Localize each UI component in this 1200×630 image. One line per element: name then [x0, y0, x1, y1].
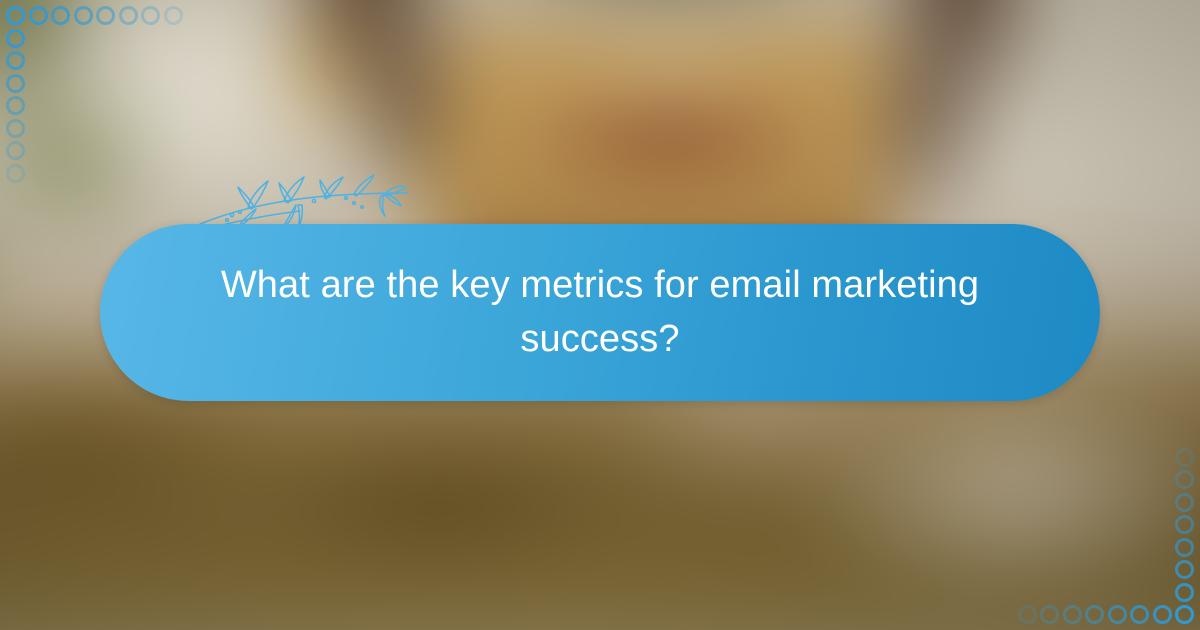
ornament-dot: [29, 6, 48, 25]
question-pill: What are the key metrics for email marke…: [100, 224, 1100, 401]
ornament-dot: [1175, 560, 1194, 579]
ornament-dot: [1063, 605, 1082, 624]
ornament-dot: [1153, 605, 1172, 624]
ornament-dot: [6, 141, 25, 160]
ornament-dot: [51, 6, 70, 25]
question-card-canvas: What are the key metrics for email marke…: [0, 0, 1200, 630]
ornament-dot: [1175, 470, 1194, 489]
ornament-dot: [1175, 605, 1194, 624]
ornament-dot: [6, 96, 25, 115]
ornament-dot: [1175, 538, 1194, 557]
ornament-dot: [6, 6, 25, 25]
ornament-dot: [1040, 605, 1059, 624]
ornament-dot: [6, 74, 25, 93]
ornament-dot: [6, 51, 25, 70]
ornament-dot: [1175, 515, 1194, 534]
ornament-dot: [6, 164, 25, 183]
ornament-dot: [1130, 605, 1149, 624]
ornament-dot: [164, 6, 183, 25]
ornament-dot: [1108, 605, 1127, 624]
ornament-dot: [74, 6, 93, 25]
ornament-dot: [1175, 493, 1194, 512]
ornament-dot: [119, 6, 138, 25]
ornament-dot: [141, 6, 160, 25]
ornament-dot: [96, 6, 115, 25]
ornament-dot: [1018, 605, 1037, 624]
ornament-dot: [1175, 583, 1194, 602]
question-text: What are the key metrics for email marke…: [170, 259, 1030, 367]
ornament-dot: [1085, 605, 1104, 624]
ornament-dot: [6, 119, 25, 138]
ornament-dot: [1175, 448, 1194, 467]
ornament-dot: [6, 29, 25, 48]
